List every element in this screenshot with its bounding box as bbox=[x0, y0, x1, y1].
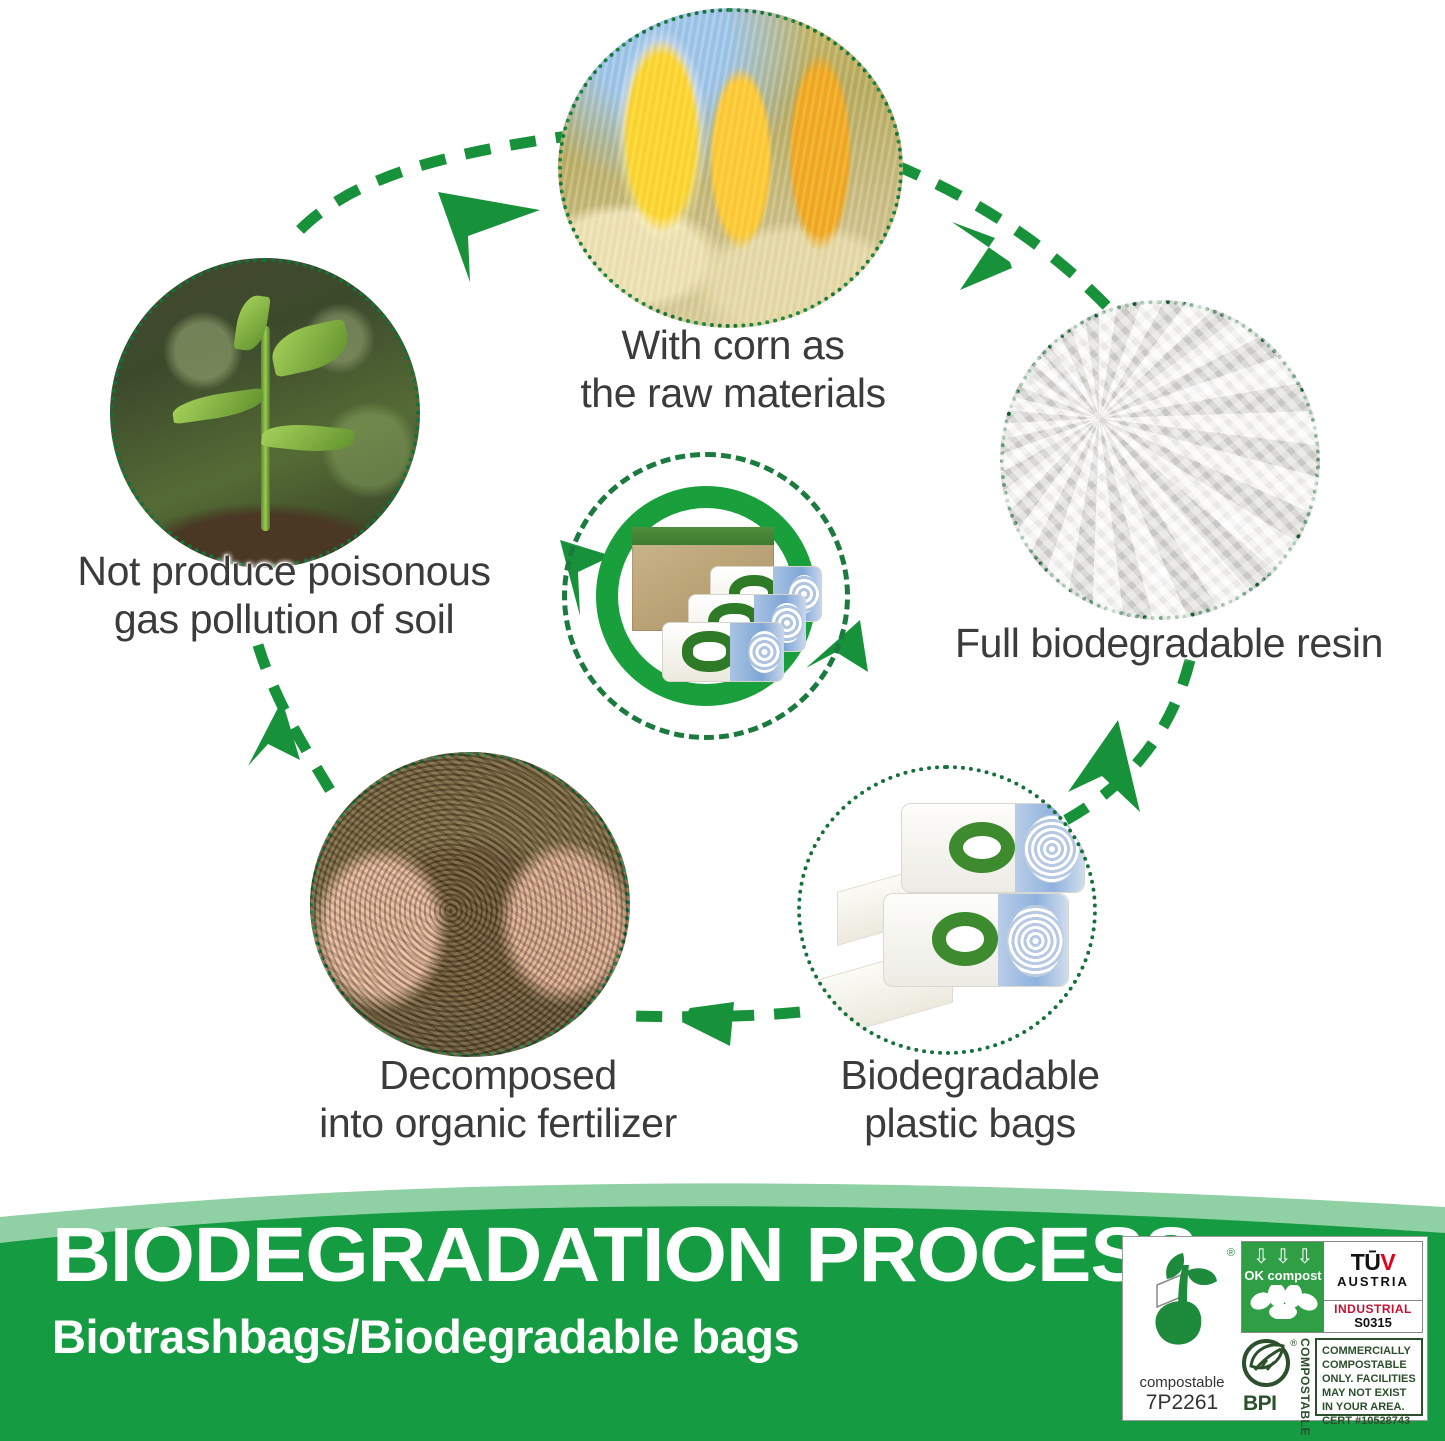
seedling-leaf-right bbox=[261, 421, 355, 456]
trash-bag-rolls-photo bbox=[797, 765, 1097, 1055]
bpi-statement-box: COMMERCIALLY COMPOSTABLE ONLY. FACILITIE… bbox=[1315, 1338, 1423, 1416]
tuv-prefix: TŪ bbox=[1351, 1249, 1381, 1275]
certification-panel: ® compostable 7P2261 ⇩ ⇩ ⇩ OK compost bbox=[1122, 1236, 1428, 1421]
corn-photo-ring bbox=[558, 8, 903, 328]
tuv-suffix: V bbox=[1380, 1249, 1395, 1275]
bag-roll-green-logo bbox=[949, 822, 1015, 873]
bpi-leaf-circle-icon bbox=[1241, 1338, 1291, 1392]
product-roll-green-logo bbox=[682, 631, 737, 672]
arrowhead-bags-to-fertilizer bbox=[682, 1002, 734, 1046]
down-arrow-icon: ⇩ bbox=[1296, 1247, 1313, 1267]
node-corn-label: With corn as the raw materials bbox=[538, 322, 928, 417]
bag-roll-spiral-end bbox=[1007, 905, 1064, 977]
white-resin-pellets-photo bbox=[1000, 300, 1320, 620]
seedling-icon bbox=[1137, 1245, 1229, 1353]
bag-roll-green-logo bbox=[932, 912, 998, 965]
tuv-scope: INDUSTRIAL bbox=[1324, 1303, 1422, 1316]
ok-compost-label: OK compost bbox=[1244, 1268, 1321, 1283]
seedling-leaf-top bbox=[267, 319, 352, 378]
arrowhead-soil-to-corn bbox=[438, 192, 540, 282]
bag-roll-lower bbox=[883, 893, 1069, 987]
down-arrow-icon: ⇩ bbox=[1253, 1247, 1270, 1267]
node-bags-label: Biodegradable plastic bags bbox=[790, 1052, 1150, 1147]
infographic-canvas: With corn as the raw materials Full biod… bbox=[0, 0, 1445, 1441]
down-arrow-icon: ⇩ bbox=[1275, 1247, 1292, 1267]
node-fertilizer-label: Decomposed into organic fertilizer bbox=[278, 1052, 718, 1147]
bpi-cert-line: CERT #10528743 bbox=[1322, 1414, 1416, 1428]
cert-right-column: ⇩ ⇩ ⇩ OK compost TŪV bbox=[1241, 1237, 1427, 1420]
bpi-acronym: BPI bbox=[1243, 1392, 1277, 1416]
bag-roll-upper bbox=[901, 803, 1085, 893]
tuv-austria-badge: TŪV AUSTRIA INDUSTRIAL S0315 bbox=[1324, 1242, 1422, 1332]
resin-photo-ring bbox=[1000, 300, 1320, 620]
seedling-number: 7P2261 bbox=[1146, 1391, 1218, 1414]
arrowhead-corn-to-resin bbox=[952, 222, 1012, 290]
arrowhead-resin-to-bags bbox=[1068, 720, 1140, 812]
product-box-lid bbox=[632, 527, 774, 545]
ok-compost-arrows: ⇩ ⇩ ⇩ bbox=[1253, 1247, 1313, 1267]
connector-soil-to-corn bbox=[300, 135, 575, 230]
product-roll-front bbox=[662, 622, 784, 682]
tuv-country: AUSTRIA bbox=[1337, 1274, 1409, 1290]
tuv-code: S0315 bbox=[1324, 1316, 1422, 1330]
seedling-leaf-left bbox=[171, 388, 265, 425]
tuv-wordmark: TŪV bbox=[1351, 1251, 1396, 1274]
ok-compost-tuv-row: ⇩ ⇩ ⇩ OK compost TŪV bbox=[1241, 1241, 1423, 1333]
seedling-word: compostable bbox=[1139, 1375, 1224, 1391]
connector-corn-to-resin bbox=[895, 165, 1120, 320]
node-soil-label: Not produce poisonous gas pollution of s… bbox=[14, 548, 554, 643]
bpi-registered-mark: ® bbox=[1290, 1338, 1297, 1348]
hands-holding-soil-heart-photo bbox=[310, 752, 630, 1057]
fertilizer-photo-ring bbox=[310, 752, 630, 1057]
node-resin-label: Full biodegradable resin bbox=[908, 620, 1430, 668]
bpi-vertical-word: COMPOSTABLE bbox=[1298, 1338, 1312, 1416]
bpi-row: ® BPI COMPOSTABLE COMMERCIALLY COMPOSTAB… bbox=[1241, 1338, 1423, 1416]
banner-subtitle: Biotrashbags/Biodegradable bags bbox=[52, 1309, 799, 1364]
tuv-name-block: TŪV AUSTRIA bbox=[1324, 1242, 1422, 1301]
seedling-sprout-photo bbox=[110, 258, 420, 568]
ok-compost-badge: ⇩ ⇩ ⇩ OK compost bbox=[1242, 1242, 1324, 1332]
product-roll-blue-band bbox=[730, 623, 783, 681]
seedling-certification: ® compostable 7P2261 bbox=[1123, 1237, 1241, 1420]
banner-title: BIODEGRADATION PROCESS bbox=[52, 1211, 1197, 1300]
bpi-statement: COMMERCIALLY COMPOSTABLE ONLY. FACILITIE… bbox=[1322, 1344, 1416, 1414]
seedling-registered-mark: ® bbox=[1227, 1247, 1235, 1259]
corn-cobs-photo bbox=[558, 8, 903, 328]
compost-flower-icon bbox=[1247, 1285, 1319, 1319]
tuv-scope-block: INDUSTRIAL S0315 bbox=[1324, 1301, 1422, 1332]
bpi-badge: ® BPI bbox=[1241, 1338, 1295, 1416]
